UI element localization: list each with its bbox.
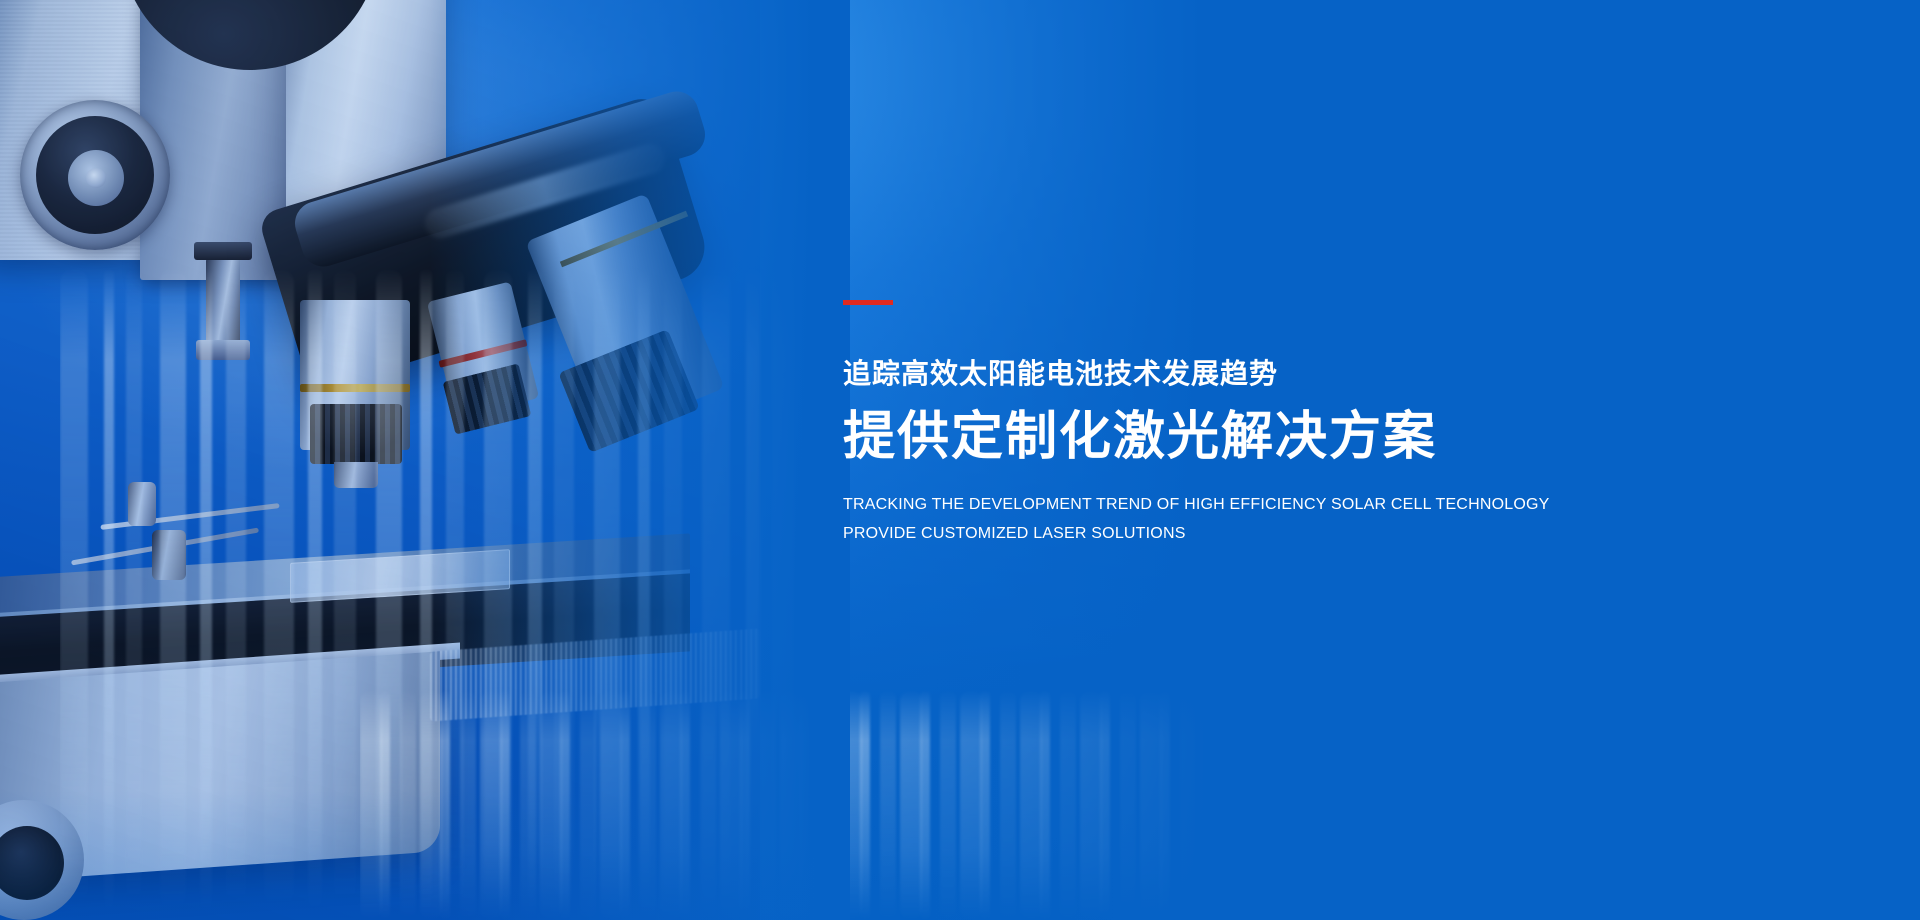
- hero-copy: 追踪高效太阳能电池技术发展趋势 提供定制化激光解决方案 TRACKING THE…: [843, 300, 1723, 542]
- accent-bar: [843, 300, 893, 305]
- hero-subtitle-en-line-1: TRACKING THE DEVELOPMENT TREND OF HIGH E…: [843, 497, 1723, 513]
- hero-banner: 追踪高效太阳能电池技术发展趋势 提供定制化激光解决方案 TRACKING THE…: [0, 0, 1920, 920]
- photo-right-fade: [430, 0, 850, 920]
- hero-subtitle-en-line-2: PROVIDE CUSTOMIZED LASER SOLUTIONS: [843, 526, 1723, 542]
- hero-title-cn: 提供定制化激光解决方案: [843, 407, 1723, 467]
- hero-subtitle-cn: 追踪高效太阳能电池技术发展趋势: [843, 357, 1723, 391]
- photo-bottom-fade: [0, 790, 900, 920]
